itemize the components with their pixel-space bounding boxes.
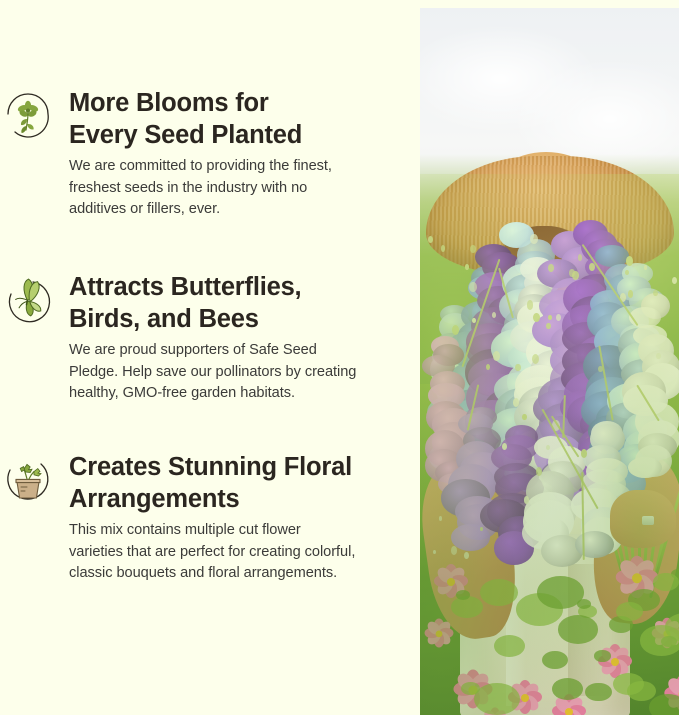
feature-title-2: Attracts Butterflies, Birds, and Bees (69, 272, 402, 335)
photo-top-margin (420, 4, 679, 8)
feature-block-attracts-pollinators: Attracts Butterflies, Birds, and Bees We… (0, 272, 420, 405)
garden-bokeh-overlay (420, 174, 679, 715)
feature-text-3: Creates Stunning Floral Arrangements Thi… (69, 452, 420, 585)
feature-title-1: More Blooms for Every Seed Planted (69, 88, 402, 151)
flower-sprout-icon (3, 92, 53, 142)
feature-text-2: Attracts Butterflies, Birds, and Bees We… (69, 272, 420, 405)
woman-with-delphinium-bouquet-photo (420, 4, 679, 715)
feature-description-1: We are committed to providing the finest… (69, 156, 402, 221)
feature-text-1: More Blooms for Every Seed Planted We ar… (69, 88, 420, 221)
features-column: More Blooms for Every Seed Planted We ar… (0, 0, 420, 715)
butterfly-icon (3, 276, 53, 326)
product-feature-panel: More Blooms for Every Seed Planted We ar… (0, 0, 679, 715)
feature-description-2: We are proud supporters of Safe Seed Ple… (69, 340, 402, 405)
feature-block-more-blooms: More Blooms for Every Seed Planted We ar… (0, 88, 420, 221)
feature-description-3: This mix contains multiple cut flower va… (69, 520, 402, 585)
photo-column (420, 0, 679, 715)
potted-plant-icon (3, 456, 53, 506)
feature-title-3: Creates Stunning Floral Arrangements (69, 452, 402, 515)
feature-block-floral-arrangements: Creates Stunning Floral Arrangements Thi… (0, 452, 420, 585)
